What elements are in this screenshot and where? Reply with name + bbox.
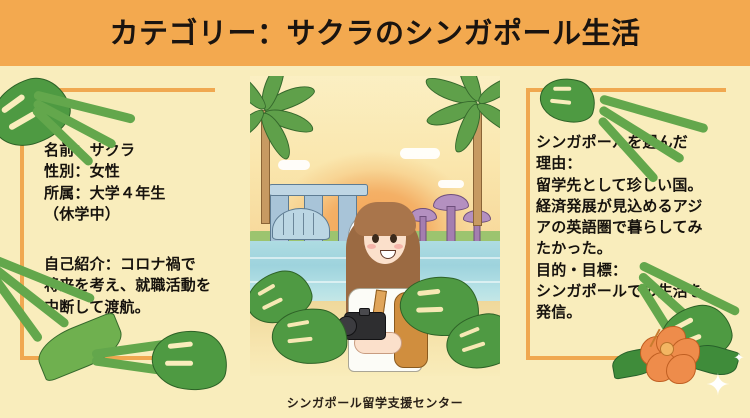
reason-line-2: 留学先として珍しい国。 (536, 175, 741, 196)
palm-frond-icon (600, 86, 730, 142)
camera-icon (344, 312, 386, 340)
monstera-leaf-icon (147, 323, 234, 397)
sparkle-icon: ✦ (732, 352, 746, 366)
singapore-sunset-illustration (250, 76, 500, 376)
reason-line-4: アの英語圏で暮らしてみ (536, 217, 741, 238)
profile-card: カテゴリー：サクラのシンガポール生活 名前：サクラ 性別：女性 所属：大学４年生… (0, 0, 750, 418)
blush (394, 244, 403, 249)
eye (390, 234, 397, 243)
profile-affiliation: 所属：大学４年生 (44, 183, 254, 204)
page-title: カテゴリー：サクラのシンガポール生活 (109, 19, 640, 48)
palm-frond-icon (0, 244, 110, 294)
palm-frond-icon (640, 250, 750, 302)
profile-affiliation-note: （休学中） (44, 204, 254, 225)
palm-frond-icon (34, 84, 154, 130)
intro-line-3: 中断して渡航。 (44, 297, 259, 318)
footer-caption: シンガポール留学支援センター (0, 394, 750, 411)
palm-tree-icon (250, 94, 342, 224)
header-bar: カテゴリー：サクラのシンガポール生活 (0, 0, 750, 66)
frame-right-vertical (526, 88, 530, 360)
eye (372, 234, 379, 243)
blush (367, 244, 376, 249)
hair-top (354, 202, 416, 236)
hibiscus-flower-icon (638, 326, 700, 382)
profile-gender: 性別：女性 (44, 161, 254, 182)
reason-line-3: 経済発展が見込めるアジ (536, 196, 741, 217)
monstera-leaf-icon (535, 70, 602, 129)
